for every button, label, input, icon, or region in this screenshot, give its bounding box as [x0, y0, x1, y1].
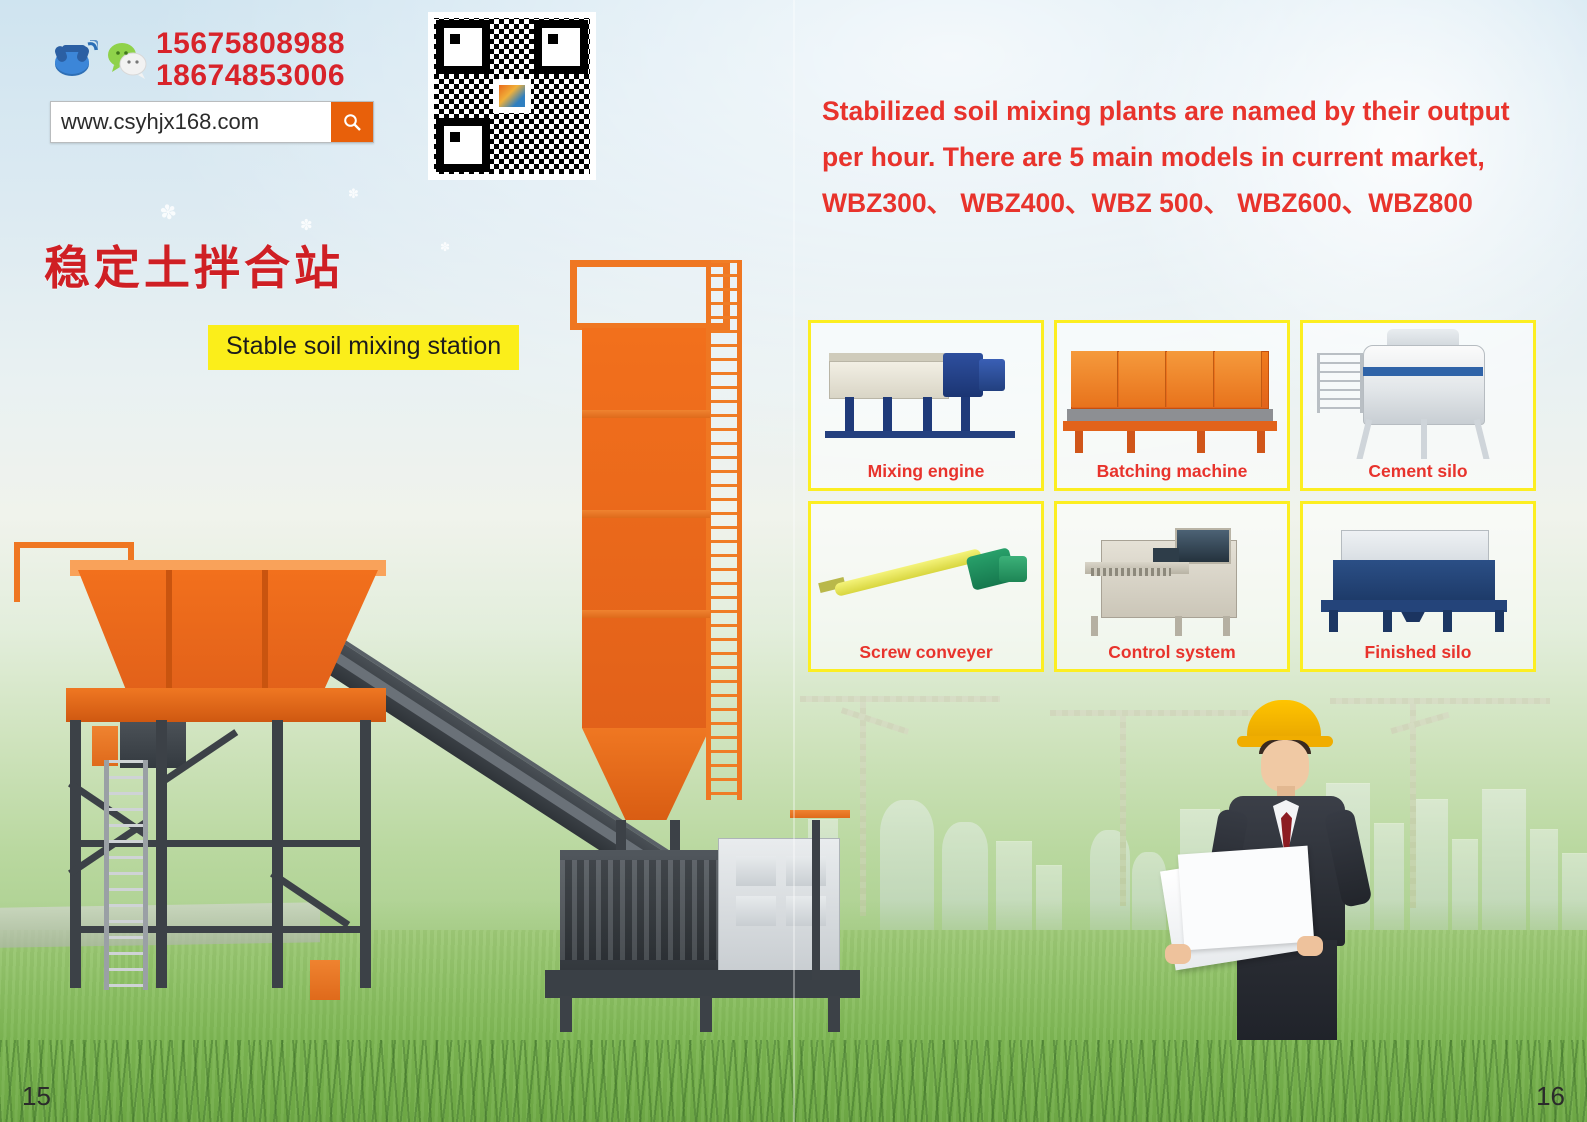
engineer-figure — [1185, 700, 1385, 1040]
wechat-icon — [106, 40, 148, 80]
screw-conveyer-image — [811, 504, 1041, 640]
mixing-plant-illustration — [0, 520, 900, 1080]
product-caption: Mixing engine — [868, 459, 985, 482]
website-url: www.csyhjx168.com — [51, 102, 331, 142]
product-card-screw-conveyer[interactable]: Screw conveyer — [808, 501, 1044, 672]
bird-icon: ✽ — [348, 186, 359, 202]
product-caption: Control system — [1108, 640, 1235, 663]
tower-ladder-icon — [706, 260, 742, 800]
access-ladder-icon — [104, 760, 148, 990]
website-search-bar[interactable]: www.csyhjx168.com — [50, 101, 374, 143]
brochure-page: ✽ ✽ ✽ ✽ — [0, 0, 1587, 1122]
intro-paragraph: Stabilized soil mixing plants are named … — [822, 88, 1522, 226]
phone-numbers: 15675808988 18674853006 — [156, 28, 345, 92]
search-icon[interactable] — [331, 102, 373, 142]
vertical-elevator-tower — [570, 260, 730, 880]
page-title-english-badge: Stable soil mixing station — [208, 325, 519, 370]
control-system-image — [1057, 504, 1287, 640]
phone-number-1: 15675808988 — [156, 28, 345, 60]
qr-code — [428, 12, 596, 180]
product-card-batching-machine[interactable]: Batching machine — [1054, 320, 1290, 491]
product-caption: Screw conveyer — [859, 640, 992, 663]
mixing-engine-image — [811, 323, 1041, 459]
product-card-control-system[interactable]: Control system — [1054, 501, 1290, 672]
page-title-chinese: 稳定土拌合站 — [44, 232, 344, 298]
batching-machine-image — [1057, 323, 1287, 459]
contact-block: 15675808988 18674853006 www.csyhjx168.co… — [50, 28, 410, 143]
telephone-icon — [50, 40, 98, 80]
product-card-cement-silo[interactable]: Cement silo — [1300, 320, 1536, 491]
phone-number-2: 18674853006 — [156, 60, 345, 92]
product-caption: Finished silo — [1365, 640, 1472, 663]
bird-icon: ✽ — [440, 240, 450, 254]
cement-silo-image — [1303, 323, 1533, 459]
product-card-mixing-engine[interactable]: Mixing engine — [808, 320, 1044, 491]
finished-silo-image — [1303, 504, 1533, 640]
product-card-finished-silo[interactable]: Finished silo — [1300, 501, 1536, 672]
page-number-left: 15 — [22, 1081, 51, 1112]
blueprint-sheet — [1178, 846, 1314, 951]
product-caption: Cement silo — [1368, 459, 1467, 482]
product-caption: Batching machine — [1097, 459, 1248, 482]
product-card-grid: Mixing engine Batching machine — [808, 320, 1538, 672]
page-gutter — [793, 0, 795, 1122]
page-number-right: 16 — [1536, 1081, 1565, 1112]
